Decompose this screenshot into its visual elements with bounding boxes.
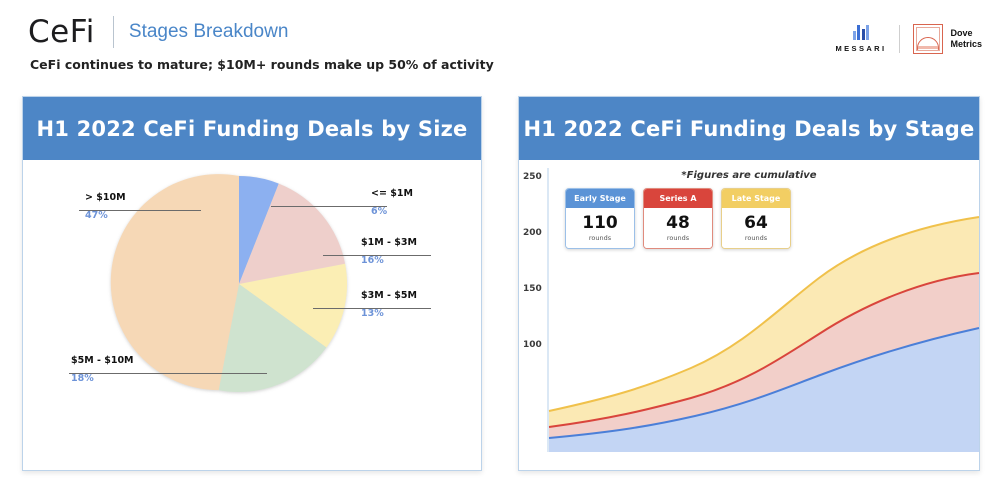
stat-card-early-stage-unit: rounds <box>589 234 611 242</box>
pie-label-5m-10m-text: $5M - $10M <box>71 355 134 366</box>
x-tick-apr: Apr. <box>799 453 822 465</box>
panel-body-right: *Figures are cumulative 250 200 150 100 <box>519 160 979 471</box>
pie-label-lte-1m-text: <= $1M <box>371 188 413 199</box>
pie-label-3m-5m-pct: 13% <box>361 308 417 319</box>
messari-wordmark: MESSARI <box>836 44 887 53</box>
panel-title-right: H1 2022 CeFi Funding Deals by Stage <box>524 117 975 141</box>
panel-header-left: H1 2022 CeFi Funding Deals by Size <box>23 97 481 160</box>
page-header: CeFi Stages Breakdown CeFi continues to … <box>0 0 1000 86</box>
x-tick-may: May <box>879 453 903 465</box>
pie-label-1m-3m: $1M - $3M 16% <box>361 237 417 266</box>
stat-card-early-stage-label: Early Stage <box>566 189 634 208</box>
stat-card-series-a-value: 48 <box>666 214 690 232</box>
stat-card-late-stage-value: 64 <box>744 214 768 232</box>
breadcrumb: CeFi Stages Breakdown <box>28 14 288 50</box>
leader-line-lte-1m <box>271 206 387 207</box>
panel-title-left: H1 2022 CeFi Funding Deals by Size <box>37 117 468 141</box>
subtitle-text: CeFi continues to mature; $10M+ rounds m… <box>30 57 494 72</box>
brand-title: CeFi <box>28 14 95 50</box>
pie-label-gt-10m-text: > $10M <box>85 192 126 203</box>
pie-label-3m-5m-text: $3M - $5M <box>361 290 417 301</box>
stat-card-series-a-label: Series A <box>644 189 712 208</box>
stat-card-late-stage-unit: rounds <box>745 234 767 242</box>
title-divider <box>113 16 114 48</box>
panel-deals-by-stage: H1 2022 CeFi Funding Deals by Stage *Fig… <box>518 96 980 471</box>
pie-label-5m-10m: $5M - $10M 18% <box>71 355 134 384</box>
messari-mark-icon <box>853 25 870 40</box>
x-tick-feb: Feb. <box>639 453 664 465</box>
pie-label-gt-10m: > $10M 47% <box>85 192 126 221</box>
logo-group: MESSARI Dove Metrics <box>836 24 983 54</box>
pie-label-1m-3m-pct: 16% <box>361 255 417 266</box>
dove-metrics-logo: Dove Metrics <box>913 24 982 54</box>
pie-label-lte-1m: <= $1M 6% <box>371 188 413 217</box>
pie-label-lte-1m-pct: 6% <box>371 206 413 217</box>
x-tick-june: June <box>947 453 973 465</box>
stat-card-early-stage[interactable]: Early Stage 110 rounds <box>565 188 635 249</box>
panel-body-left: > $10M 47% <= $1M 6% $1M - $3M 16% $3M -… <box>23 160 481 471</box>
messari-logo: MESSARI <box>836 25 887 53</box>
page-title: Stages Breakdown <box>129 21 289 43</box>
stat-card-series-a-unit: rounds <box>667 234 689 242</box>
stat-card-late-stage-label: Late Stage <box>722 189 790 208</box>
pie-chart: > $10M 47% <= $1M 6% $1M - $3M 16% $3M -… <box>23 160 481 471</box>
stat-card-series-a[interactable]: Series A 48 rounds <box>643 188 713 249</box>
stage-stat-cards: Early Stage 110 rounds Series A 48 round… <box>565 188 791 249</box>
panel-deals-by-size: H1 2022 CeFi Funding Deals by Size <box>22 96 482 471</box>
dove-mountain-icon <box>913 24 943 54</box>
panel-header-right: H1 2022 CeFi Funding Deals by Stage <box>519 97 979 160</box>
x-tick-jan: Jan. <box>559 453 581 465</box>
dove-wordmark: Dove Metrics <box>950 28 982 50</box>
logo-divider <box>899 25 900 53</box>
pie-label-3m-5m: $3M - $5M 13% <box>361 290 417 319</box>
dove-word-line2: Metrics <box>950 39 982 49</box>
pie-label-5m-10m-pct: 18% <box>71 373 134 384</box>
pie-label-1m-3m-text: $1M - $3M <box>361 237 417 248</box>
pie-label-gt-10m-pct: 47% <box>85 210 126 221</box>
stat-card-early-stage-value: 110 <box>582 214 618 232</box>
x-tick-mar: Mar. <box>719 453 744 465</box>
stat-card-late-stage[interactable]: Late Stage 64 rounds <box>721 188 791 249</box>
dove-word-line1: Dove <box>950 28 972 38</box>
slide-root: CeFi Stages Breakdown CeFi continues to … <box>0 0 1000 497</box>
